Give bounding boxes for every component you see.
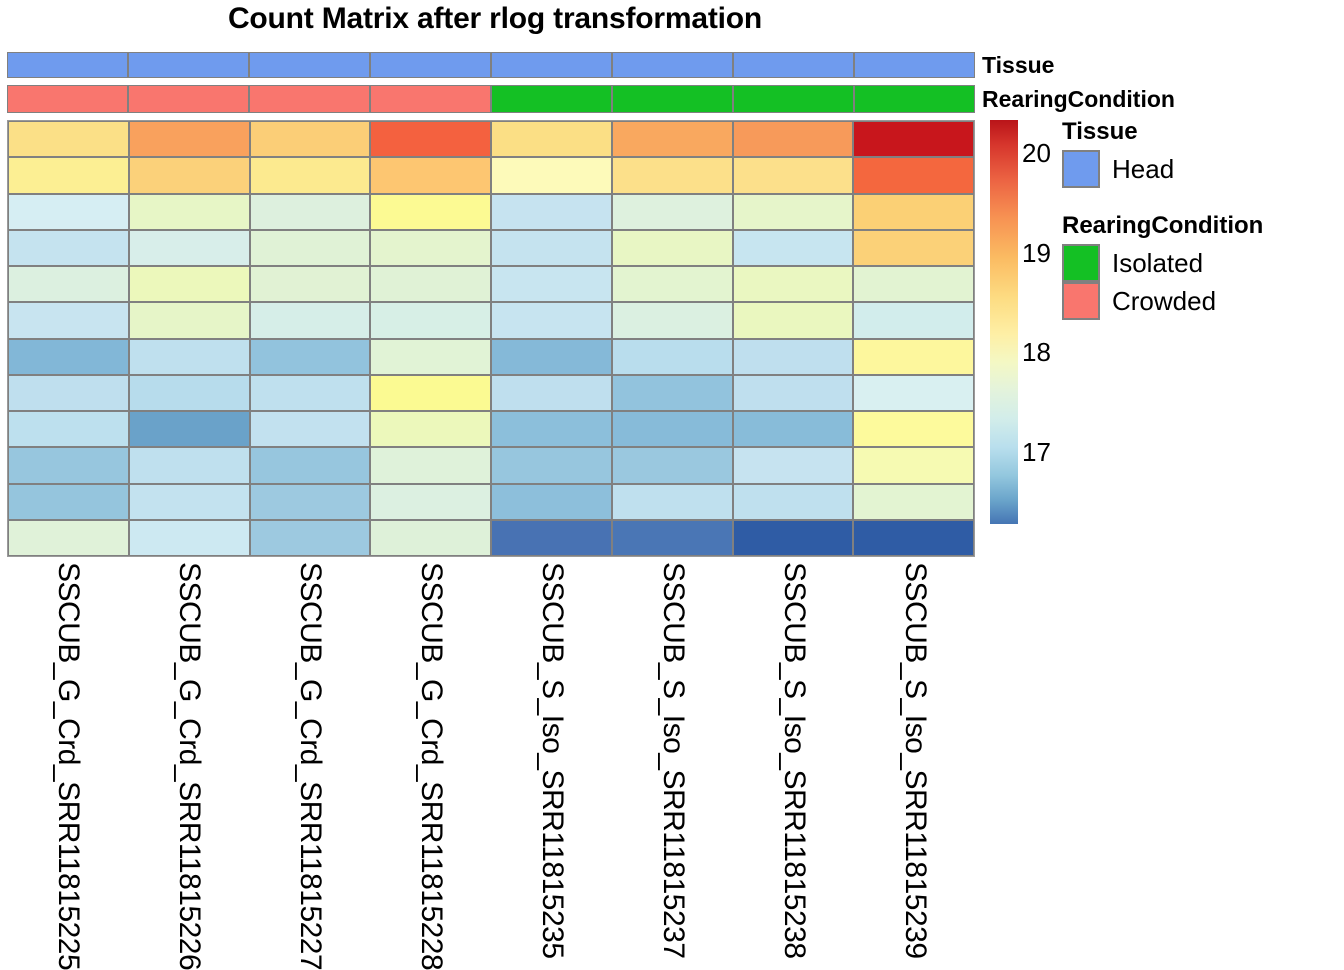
column-label-slot: SSCUB_S_Iso_SRR11815239 — [854, 560, 975, 958]
heatmap-cell — [129, 266, 250, 302]
colorbar-gradient — [990, 120, 1018, 524]
colorbar-tick-label: 17 — [1022, 437, 1051, 468]
heatmap-cell — [491, 157, 612, 193]
heatmap-cell — [853, 266, 974, 302]
annotation-cell — [854, 85, 975, 113]
heatmap-cell — [733, 484, 854, 520]
heatmap-cell — [612, 230, 733, 266]
heatmap-cell — [250, 484, 371, 520]
heatmap-cell — [491, 484, 612, 520]
heatmap-cell — [8, 157, 129, 193]
heatmap-cell — [733, 194, 854, 230]
heatmap-cell — [370, 411, 491, 447]
heatmap-cell — [370, 194, 491, 230]
legend-title-rearing-condition: RearingCondition — [1062, 212, 1263, 240]
heatmap-cell — [129, 121, 250, 157]
annotation-track-rearing-condition — [7, 85, 975, 113]
heatmap-cell — [370, 339, 491, 375]
heatmap-cell — [491, 375, 612, 411]
column-label: SSCUB_S_Iso_SRR11815237 — [656, 562, 690, 959]
heatmap-cell — [853, 194, 974, 230]
heatmap-cell — [612, 121, 733, 157]
annotation-cell — [128, 52, 249, 78]
heatmap-cell — [129, 302, 250, 338]
annotation-cell — [733, 85, 854, 113]
annotation-cell — [612, 85, 733, 113]
heatmap-cell — [250, 121, 371, 157]
heatmap-cell — [612, 266, 733, 302]
heatmap-cell — [250, 157, 371, 193]
heatmap-cell — [370, 447, 491, 483]
column-label-slot: SSCUB_G_Crd_SRR11815225 — [7, 560, 128, 958]
heatmap-cell — [370, 375, 491, 411]
column-label-slot: SSCUB_G_Crd_SRR11815226 — [128, 560, 249, 958]
heatmap-cell — [250, 194, 371, 230]
column-axis-labels: SSCUB_G_Crd_SRR11815225SSCUB_G_Crd_SRR11… — [7, 560, 975, 958]
heatmap-cell — [612, 375, 733, 411]
heatmap-cell — [491, 447, 612, 483]
heatmap-cell — [491, 411, 612, 447]
heatmap-cell — [8, 339, 129, 375]
heatmap-cell — [612, 520, 733, 556]
heatmap-cell — [129, 230, 250, 266]
heatmap-cell — [250, 266, 371, 302]
heatmap-cell — [733, 121, 854, 157]
heatmap-cell — [8, 194, 129, 230]
heatmap-cell — [853, 375, 974, 411]
heatmap-cell — [370, 266, 491, 302]
heatmap-cell — [612, 339, 733, 375]
heatmap-cell — [129, 194, 250, 230]
annotation-cell — [7, 85, 128, 113]
heatmap-cell — [250, 411, 371, 447]
annotation-cell — [491, 52, 612, 78]
column-label: SSCUB_S_Iso_SRR11815235 — [535, 562, 569, 959]
column-label-slot: SSCUB_G_Crd_SRR11815227 — [249, 560, 370, 958]
heatmap-cell — [853, 339, 974, 375]
column-label-slot: SSCUB_S_Iso_SRR11815237 — [612, 560, 733, 958]
heatmap-cell — [8, 375, 129, 411]
heatmap-row — [8, 121, 974, 157]
annotation-cell — [128, 85, 249, 113]
heatmap-cell — [853, 157, 974, 193]
legend-rearing-condition: RearingCondition IsolatedCrowded — [1062, 212, 1263, 320]
heatmap-cell — [250, 375, 371, 411]
heatmap-cell — [491, 302, 612, 338]
legend-item[interactable]: Isolated — [1062, 244, 1263, 282]
heatmap-cell — [612, 447, 733, 483]
annotation-cell — [249, 52, 370, 78]
heatmap-cell — [370, 157, 491, 193]
annotation-cell — [370, 52, 491, 78]
heatmap-cell — [491, 266, 612, 302]
heatmap-cell — [250, 520, 371, 556]
heatmap-cell — [8, 121, 129, 157]
heatmap-cell — [733, 520, 854, 556]
colorbar-tick-label: 20 — [1022, 138, 1051, 169]
heatmap-cell — [612, 484, 733, 520]
heatmap-row — [8, 266, 974, 302]
heatmap-cell — [491, 194, 612, 230]
legend-swatch — [1062, 150, 1100, 188]
heatmap-cell — [733, 411, 854, 447]
heatmap-cell — [733, 302, 854, 338]
legend-item[interactable]: Crowded — [1062, 282, 1263, 320]
annotation-cell — [491, 85, 612, 113]
column-label: SSCUB_G_Crd_SRR11815226 — [172, 562, 206, 970]
heatmap-cell — [853, 447, 974, 483]
heatmap-cell — [8, 447, 129, 483]
heatmap-cell — [853, 484, 974, 520]
annotation-track-label-rearing-condition: RearingCondition — [982, 86, 1175, 113]
heatmap-cell — [129, 484, 250, 520]
heatmap-row — [8, 230, 974, 266]
heatmap-cell — [250, 447, 371, 483]
heatmap-cell — [612, 194, 733, 230]
heatmap-cell — [612, 157, 733, 193]
legend-tissue: Tissue Head — [1062, 118, 1174, 188]
heatmap-cell — [853, 230, 974, 266]
heatmap-cell — [733, 375, 854, 411]
heatmap-cell — [250, 302, 371, 338]
heatmap-cell — [853, 121, 974, 157]
heatmap-grid — [7, 120, 975, 557]
heatmap-row — [8, 520, 974, 556]
heatmap-cell — [129, 411, 250, 447]
column-label: SSCUB_G_Crd_SRR11815225 — [51, 562, 85, 970]
column-label: SSCUB_G_Crd_SRR11815227 — [293, 562, 327, 970]
colorbar-tick-label: 18 — [1022, 337, 1051, 368]
heatmap-row — [8, 157, 974, 193]
heatmap-cell — [612, 411, 733, 447]
heatmap-cell — [370, 520, 491, 556]
legend-item-label: Crowded — [1112, 286, 1216, 317]
heatmap-cell — [8, 411, 129, 447]
annotation-track-label-tissue: Tissue — [982, 52, 1054, 79]
heatmap-cell — [129, 157, 250, 193]
column-label-slot: SSCUB_G_Crd_SRR11815228 — [370, 560, 491, 958]
heatmap-cell — [8, 484, 129, 520]
annotation-cell — [370, 85, 491, 113]
legend-title-tissue: Tissue — [1062, 118, 1174, 146]
legend-swatch — [1062, 244, 1100, 282]
colorbar-tick-label: 19 — [1022, 238, 1051, 269]
heatmap-cell — [853, 302, 974, 338]
heatmap-cell — [129, 520, 250, 556]
column-label: SSCUB_S_Iso_SRR11815239 — [898, 562, 932, 959]
heatmap-row — [8, 194, 974, 230]
heatmap-cell — [370, 484, 491, 520]
legend-item-label: Head — [1112, 154, 1174, 185]
heatmap-row — [8, 375, 974, 411]
legend-swatch — [1062, 282, 1100, 320]
heatmap-cell — [129, 339, 250, 375]
heatmap-cell — [612, 302, 733, 338]
colorbar — [990, 120, 1018, 524]
heatmap-cell — [8, 266, 129, 302]
column-label: SSCUB_S_Iso_SRR11815238 — [777, 562, 811, 959]
heatmap-row — [8, 302, 974, 338]
heatmap-cell — [733, 230, 854, 266]
heatmap-cell — [370, 121, 491, 157]
heatmap-cell — [491, 520, 612, 556]
legend-item-label: Isolated — [1112, 248, 1203, 279]
heatmap-cell — [8, 302, 129, 338]
page-title: Count Matrix after rlog transformation — [0, 2, 990, 36]
heatmap-cell — [129, 447, 250, 483]
heatmap-row — [8, 411, 974, 447]
legend-item[interactable]: Head — [1062, 150, 1174, 188]
column-label-slot: SSCUB_S_Iso_SRR11815238 — [733, 560, 854, 958]
heatmap-cell — [733, 157, 854, 193]
annotation-track-tissue — [7, 52, 975, 78]
heatmap-cell — [491, 339, 612, 375]
heatmap-cell — [250, 339, 371, 375]
heatmap-cell — [8, 520, 129, 556]
heatmap-cell — [370, 302, 491, 338]
heatmap-cell — [491, 121, 612, 157]
heatmap-cell — [733, 339, 854, 375]
heatmap-cell — [370, 230, 491, 266]
annotation-cell — [7, 52, 128, 78]
heatmap-cell — [733, 447, 854, 483]
annotation-cell — [733, 52, 854, 78]
heatmap-cell — [853, 520, 974, 556]
annotation-cell — [249, 85, 370, 113]
heatmap-row — [8, 447, 974, 483]
column-label-slot: SSCUB_S_Iso_SRR11815235 — [491, 560, 612, 958]
heatmap-cell — [129, 375, 250, 411]
annotation-cell — [854, 52, 975, 78]
heatmap-row — [8, 484, 974, 520]
column-label: SSCUB_G_Crd_SRR11815228 — [414, 562, 448, 970]
heatmap-row — [8, 339, 974, 375]
heatmap-cell — [853, 411, 974, 447]
heatmap-cell — [8, 230, 129, 266]
heatmap-cell — [250, 230, 371, 266]
heatmap-cell — [491, 230, 612, 266]
heatmap-cell — [733, 266, 854, 302]
annotation-cell — [612, 52, 733, 78]
